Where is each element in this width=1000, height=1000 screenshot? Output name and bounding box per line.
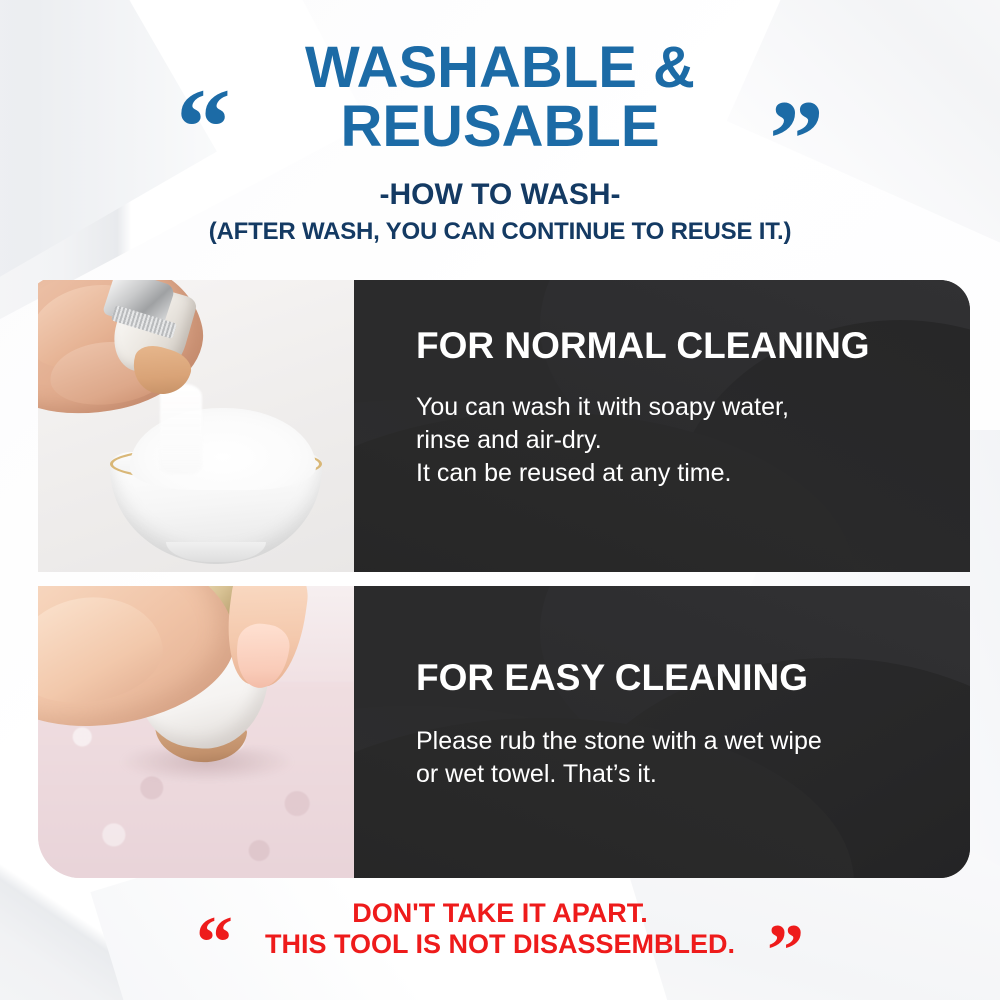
- panel-content: FOR EASY CLEANING Please rub the stone w…: [354, 586, 970, 791]
- instruction-card-normal-cleaning: FOR NORMAL CLEANING You can wash it with…: [38, 280, 970, 572]
- warning-line-1: DON'T TAKE IT APART.: [0, 898, 1000, 929]
- warning-line-2: THIS TOOL IS NOT DISASSEMBLED.: [0, 929, 1000, 960]
- header: “ ” WASHABLE & REUSABLE -HOW TO WASH- (A…: [0, 0, 1000, 246]
- subtitle-how-to-wash: -HOW TO WASH-: [0, 178, 1000, 212]
- quote-open-icon: “: [196, 906, 233, 980]
- quote-close-icon: ”: [767, 914, 804, 988]
- subtitle-reuse-note: (AFTER WASH, YOU CAN CONTINUE TO REUSE I…: [0, 218, 1000, 246]
- page-title-line-2: REUSABLE: [240, 97, 760, 156]
- card-body-text: Please rub the stone with a wet wipe or …: [416, 699, 940, 791]
- infographic-page: “ ” WASHABLE & REUSABLE -HOW TO WASH- (A…: [0, 0, 1000, 1000]
- quote-close-icon: ”: [769, 84, 824, 194]
- card-heading: FOR EASY CLEANING: [416, 658, 940, 699]
- page-title: WASHABLE & REUSABLE: [240, 38, 760, 156]
- instruction-card-easy-cleaning: FOR EASY CLEANING Please rub the stone w…: [38, 586, 970, 878]
- quote-open-icon: “: [176, 72, 231, 182]
- card-heading: FOR NORMAL CLEANING: [416, 326, 940, 367]
- card-body-text: You can wash it with soapy water, rinse …: [416, 367, 940, 490]
- title-row: “ ” WASHABLE & REUSABLE: [0, 38, 1000, 156]
- photo-easy-cleaning: [38, 586, 354, 878]
- text-panel-normal-cleaning: FOR NORMAL CLEANING You can wash it with…: [354, 280, 970, 572]
- pouring-foam: [160, 384, 202, 474]
- page-title-line-1: WASHABLE &: [240, 38, 760, 97]
- panel-content: FOR NORMAL CLEANING You can wash it with…: [354, 280, 970, 490]
- footer-warning: “ ” DON'T TAKE IT APART. THIS TOOL IS NO…: [0, 898, 1000, 960]
- text-panel-easy-cleaning: FOR EASY CLEANING Please rub the stone w…: [354, 586, 970, 878]
- photo-normal-cleaning: [38, 280, 354, 572]
